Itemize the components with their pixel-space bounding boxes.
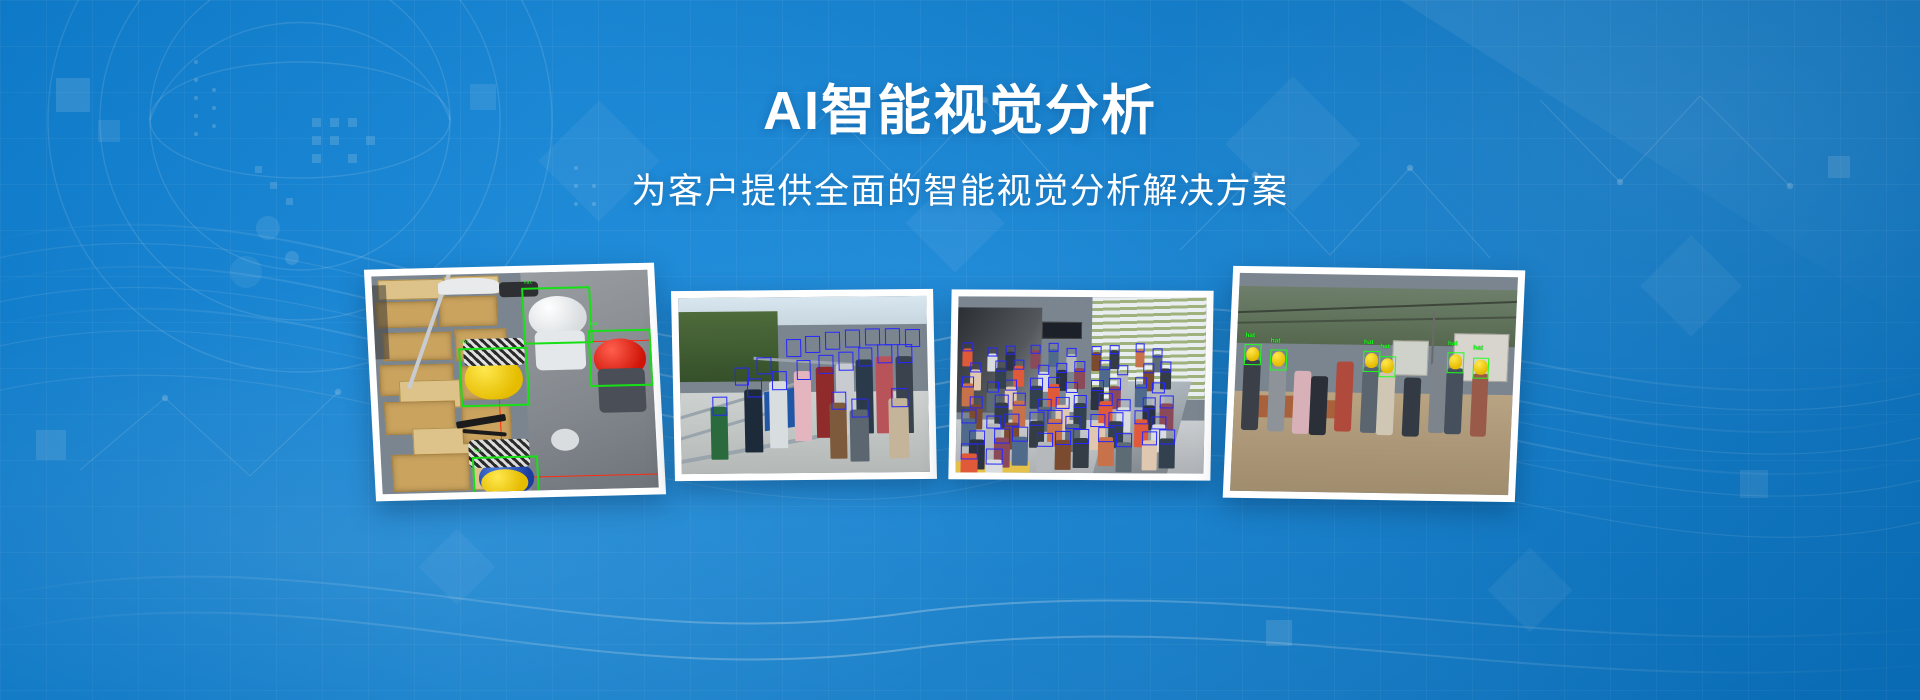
detection-box	[994, 429, 1010, 444]
detection-box	[878, 344, 893, 363]
detection-box	[521, 286, 593, 344]
detection-label: hat	[1448, 341, 1458, 348]
detection-box	[1117, 399, 1131, 412]
photo-scene-warehouse: hat hat hat hat	[371, 270, 658, 494]
worker	[1469, 373, 1489, 436]
floor-object	[551, 428, 580, 450]
detection-box	[1056, 397, 1070, 410]
detection-label: hat	[1271, 338, 1281, 345]
detection-box	[905, 329, 920, 347]
detection-box	[1005, 380, 1017, 391]
page-subtitle: 为客户提供全面的智能视觉分析解决方案	[631, 163, 1288, 214]
detection-box	[472, 456, 540, 495]
detection-label: hat	[460, 341, 469, 346]
detection-box	[786, 339, 801, 357]
detection-box	[1379, 356, 1397, 377]
detection-box	[1109, 378, 1121, 389]
detection-box	[1447, 352, 1465, 373]
detection-box	[1160, 396, 1174, 409]
pedestrian	[769, 382, 788, 449]
worker	[1376, 372, 1396, 435]
detection-box	[1091, 380, 1103, 391]
detection-box	[1048, 410, 1063, 424]
detection-box	[995, 361, 1006, 371]
detection-box	[1152, 382, 1164, 393]
detection-box	[756, 357, 771, 375]
detection-box	[825, 332, 840, 350]
detection-box	[1013, 393, 1027, 406]
pedestrian	[889, 398, 910, 458]
site-building	[1391, 341, 1429, 376]
white-equipment	[438, 278, 500, 295]
detection-box	[458, 347, 530, 407]
photo-scene-worksite: hathathathathathat	[1230, 273, 1518, 495]
detection-label: hat	[1380, 344, 1390, 351]
worker	[1241, 360, 1261, 430]
detection-box	[1153, 348, 1163, 357]
detection-box	[970, 363, 981, 373]
detection-box	[891, 388, 909, 408]
detection-label: hat	[1364, 339, 1374, 346]
detection-box	[1030, 378, 1042, 389]
carton	[439, 295, 499, 327]
detection-box	[587, 329, 653, 387]
detection-label: hat	[1245, 333, 1255, 340]
detection-box	[1067, 348, 1077, 357]
gallery-photo-worksite-helmet[interactable]: hathathathathathat	[1223, 266, 1526, 502]
photo-gallery: hat hat hat hat	[370, 258, 1550, 518]
detection-box	[858, 347, 873, 366]
detection-box	[961, 443, 978, 459]
detection-box	[963, 342, 973, 351]
pedestrian	[829, 402, 848, 458]
carton	[377, 279, 444, 300]
detection-box	[796, 360, 811, 379]
detection-box	[1244, 344, 1262, 365]
gallery-photo-footbridge-crowd[interactable]	[671, 289, 937, 481]
detection-box	[1098, 427, 1114, 442]
detection-box	[1099, 394, 1113, 407]
detection-box	[1109, 412, 1124, 426]
detection-box	[1135, 377, 1147, 388]
page-title: AI智能视觉分析	[763, 82, 1157, 141]
detection-box	[986, 449, 1003, 465]
detection-label: hat	[589, 322, 598, 327]
detection-box	[712, 396, 727, 415]
detection-box	[1074, 361, 1085, 371]
detection-box	[1363, 351, 1381, 372]
detection-box	[865, 328, 880, 346]
detection-box	[962, 376, 974, 387]
worker	[1444, 368, 1464, 434]
detection-box	[995, 395, 1009, 408]
detection-box	[1143, 363, 1154, 373]
detection-box	[885, 328, 900, 346]
gallery-photo-station-escalator[interactable]	[948, 289, 1213, 480]
detection-box	[1049, 343, 1059, 352]
detection-box	[1074, 395, 1088, 408]
worker	[1334, 362, 1354, 432]
photo-scene-footbridge	[678, 296, 930, 474]
worker-detections: hathathathathathat	[1240, 273, 1518, 277]
detection-box	[1056, 363, 1067, 373]
detection-box	[969, 396, 983, 409]
detection-box	[986, 415, 1001, 429]
detection-box	[1013, 359, 1024, 369]
detection-box	[851, 399, 869, 419]
detection-box	[1269, 349, 1287, 370]
detection-box	[1091, 414, 1106, 428]
photo-scene-station	[955, 296, 1206, 473]
detection-box	[1142, 397, 1156, 410]
detection-box	[987, 381, 999, 392]
detection-box	[1039, 365, 1050, 375]
detection-box	[845, 330, 860, 348]
detection-box	[1006, 346, 1016, 355]
worker	[1309, 376, 1328, 435]
carton	[392, 453, 471, 492]
detection-box	[961, 410, 976, 424]
detection-box	[1030, 412, 1045, 426]
detection-label: hat	[474, 449, 483, 454]
ai-vision-banner: AI智能视觉分析 为客户提供全面的智能视觉分析解决方案	[0, 0, 1920, 700]
detection-box	[1110, 345, 1120, 354]
detection-label: hat	[523, 280, 532, 285]
detection-box	[1048, 376, 1060, 387]
detection-box	[1066, 382, 1078, 393]
detection-box	[988, 348, 998, 357]
worker	[1267, 365, 1287, 431]
detection-box	[1092, 346, 1102, 355]
detection-box	[771, 371, 786, 390]
detection-box	[1134, 411, 1149, 425]
pedestrian	[794, 371, 813, 442]
detection-box	[1116, 433, 1132, 448]
detection-box	[805, 336, 820, 354]
detection-box	[1012, 427, 1028, 442]
detection-box	[1055, 431, 1071, 446]
detection-box	[831, 392, 846, 410]
detection-box	[838, 351, 853, 370]
detection-box	[1031, 344, 1041, 353]
pedestrian	[745, 389, 764, 452]
detection-box	[1100, 360, 1111, 370]
information-screen	[1042, 321, 1082, 339]
detection-label: hat	[1473, 346, 1483, 353]
detection-box	[1141, 431, 1157, 446]
detection-box	[1135, 343, 1145, 352]
detection-box	[1117, 365, 1128, 375]
detection-box	[1038, 398, 1052, 411]
detection-box	[1152, 416, 1167, 430]
detection-box	[1065, 416, 1080, 430]
detection-box	[1161, 362, 1172, 372]
detection-box	[734, 368, 749, 386]
detection-box	[818, 355, 833, 374]
worker	[1402, 377, 1421, 436]
detection-box	[1037, 432, 1053, 447]
detection-box	[1472, 357, 1490, 378]
detection-box	[1159, 429, 1175, 444]
detection-box	[1073, 429, 1089, 444]
gallery-photo-warehouse-hardhat[interactable]: hat hat hat hat	[364, 263, 666, 502]
detection-box	[1004, 413, 1019, 427]
